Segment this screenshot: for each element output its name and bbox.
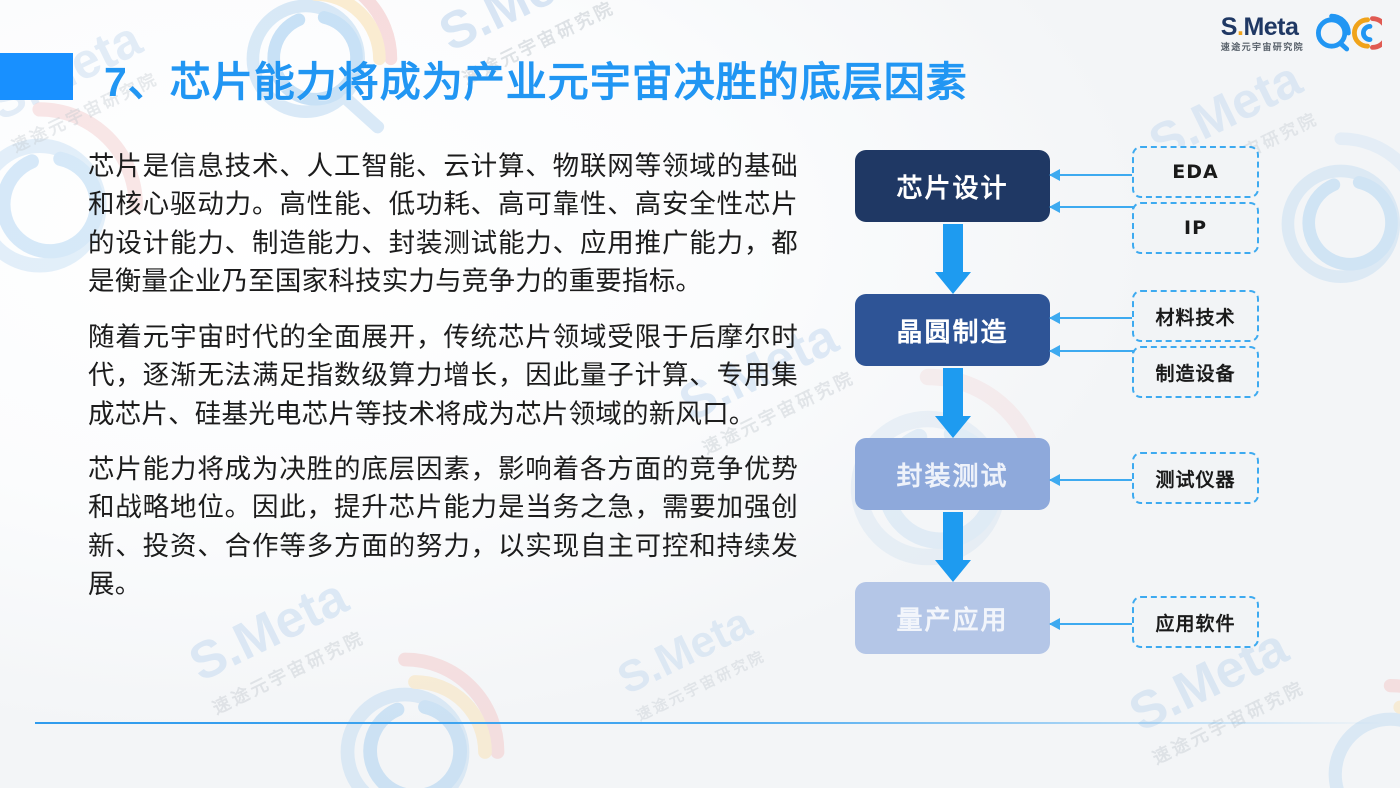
flow-arrow-down-3-icon bbox=[935, 512, 971, 582]
flow-connector-test-instrument-icon bbox=[1050, 479, 1134, 481]
flow-tag-application-software[interactable]: 应用软件 bbox=[1132, 596, 1259, 648]
brand-logo-s: S bbox=[1221, 13, 1237, 41]
flow-connector-manufacturing-equipment-icon bbox=[1050, 350, 1134, 352]
flow-tag-material-tech[interactable]: 材料技术 bbox=[1132, 290, 1259, 342]
page-title: 7、芯片能力将成为产业元宇宙决胜的底层因素 bbox=[104, 48, 968, 108]
flow-node-mass-production-label: 量产应用 bbox=[896, 600, 1008, 637]
flow-tag-test-instrument-label: 测试仪器 bbox=[1155, 465, 1235, 492]
flow-connector-application-software-icon bbox=[1050, 623, 1134, 625]
watermark-ring-center bbox=[290, 612, 540, 788]
flow-node-packaging-testing[interactable]: 封装测试 bbox=[855, 438, 1050, 510]
brand-logo-mark-icon bbox=[1310, 12, 1382, 54]
footer-divider bbox=[35, 722, 1385, 724]
flow-node-packaging-testing-label: 封装测试 bbox=[896, 456, 1008, 493]
flow-tag-eda[interactable]: EDA bbox=[1132, 146, 1259, 198]
brand-logo-meta: Meta bbox=[1243, 13, 1298, 41]
flow-node-chip-design-label: 芯片设计 bbox=[896, 168, 1008, 205]
flow-tag-manufacturing-equipment[interactable]: 制造设备 bbox=[1132, 346, 1259, 398]
flow-connector-eda-icon bbox=[1050, 174, 1134, 176]
brand-logo-name: S.Meta bbox=[1221, 15, 1304, 40]
flow-arrow-down-2-icon bbox=[935, 368, 971, 438]
paragraph-1: 芯片是信息技术、人工智能、云计算、物联网等领域的基础和核心驱动力。高性能、低功耗… bbox=[88, 148, 798, 302]
brand-logo: S.Meta 速途元宇宙研究院 bbox=[1221, 12, 1382, 54]
flow-tag-eda-label: EDA bbox=[1172, 161, 1218, 183]
brand-logo-text: S.Meta 速途元宇宙研究院 bbox=[1221, 15, 1304, 52]
flow-node-wafer-manufacturing-label: 晶圆制造 bbox=[896, 312, 1008, 349]
flow-tag-ip-label: IP bbox=[1184, 217, 1207, 239]
flow-tag-manufacturing-equipment-label: 制造设备 bbox=[1155, 359, 1235, 386]
flow-connector-material-tech-icon bbox=[1050, 317, 1134, 319]
flow-tag-application-software-label: 应用软件 bbox=[1155, 609, 1235, 636]
paragraph-2: 随着元宇宙时代的全面展开，传统芯片领域受限于后摩尔时代，逐渐无法满足指数级算力增… bbox=[88, 319, 798, 434]
flow-node-chip-design[interactable]: 芯片设计 bbox=[855, 150, 1050, 222]
watermark-brand-text-7: S.Meta 速途元宇宙研究院 bbox=[610, 598, 770, 726]
slide-canvas: S.Meta 速途元宇宙研究院 S.Meta 速途元宇宙研究院 S.Meta 速… bbox=[0, 0, 1400, 788]
watermark-brand-sub-5: 速途元宇宙研究院 bbox=[207, 623, 369, 720]
chip-value-chain-flowchart: 芯片设计 晶圆制造 封装测试 量产应用 bbox=[845, 150, 1365, 680]
brand-logo-subtitle: 速途元宇宙研究院 bbox=[1221, 43, 1304, 52]
watermark-brand-sub-7: 速途元宇宙研究院 bbox=[633, 645, 770, 726]
flow-connector-ip-icon bbox=[1050, 206, 1134, 208]
flow-tag-ip[interactable]: IP bbox=[1132, 202, 1259, 254]
flow-tag-test-instrument[interactable]: 测试仪器 bbox=[1132, 452, 1259, 504]
flow-node-mass-production[interactable]: 量产应用 bbox=[855, 582, 1050, 654]
body-text-column: 芯片是信息技术、人工智能、云计算、物联网等领域的基础和核心驱动力。高性能、低功耗… bbox=[88, 148, 798, 605]
flow-node-wafer-manufacturing[interactable]: 晶圆制造 bbox=[855, 294, 1050, 366]
flow-tag-material-tech-label: 材料技术 bbox=[1155, 303, 1235, 330]
title-accent-block bbox=[0, 53, 73, 100]
paragraph-3: 芯片能力将成为决胜的底层因素，影响着各方面的竞争优势和战略地位。因此，提升芯片能… bbox=[88, 451, 798, 605]
watermark-brand-label-7: S.Meta bbox=[610, 598, 759, 704]
flow-arrow-down-1-icon bbox=[935, 224, 971, 294]
